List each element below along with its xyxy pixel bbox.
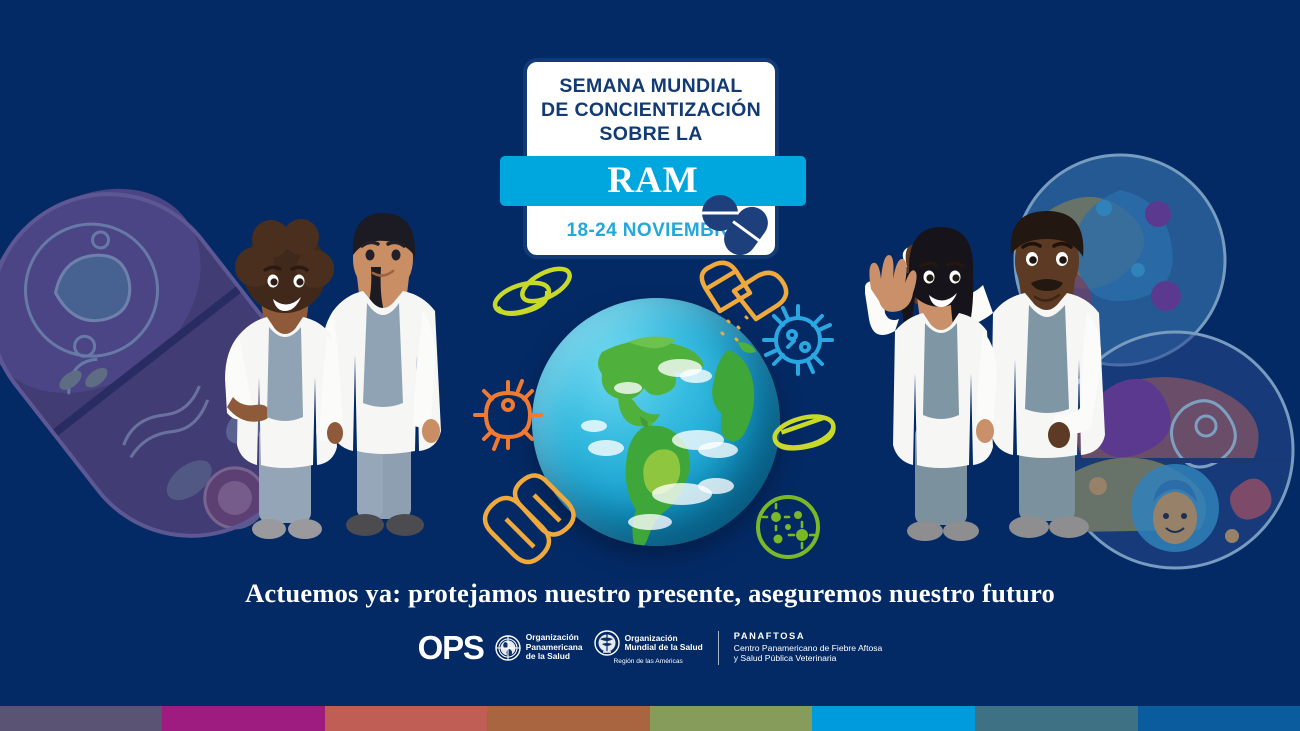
segment-olive-green <box>650 706 812 731</box>
paho-line-3: de la Salud <box>526 652 583 661</box>
segment-magenta <box>162 706 325 731</box>
segment-deep-blue <box>1138 706 1300 731</box>
who-logo: Organización Mundial de la Salud Región … <box>594 630 703 665</box>
who-emblem-icon <box>594 630 620 656</box>
acronym-text: RAM <box>607 162 698 201</box>
segment-terracotta <box>487 706 650 731</box>
ops-wordmark: OPS <box>418 631 484 664</box>
capsule-split-icon <box>702 263 786 340</box>
who-line-2: Mundial de la Salud <box>625 643 703 652</box>
capsules-icon <box>485 475 574 562</box>
globe-illustration <box>470 255 840 575</box>
paho-logo: Organización Panamericana de la Salud <box>495 633 583 661</box>
bacteria-icon <box>475 381 541 449</box>
pills-tablets-icon <box>491 262 574 319</box>
characters-right-group <box>865 163 1125 563</box>
segment-salmon-red <box>325 706 487 731</box>
virus-icon <box>764 306 832 374</box>
segment-bright-blue <box>812 706 975 731</box>
pill-capsule-icon <box>700 193 772 259</box>
segment-teal <box>975 706 1138 731</box>
panaftosa-line-1: Centro Panamericano de Fiebre Aftosa <box>734 643 883 654</box>
paho-name: Organización Panamericana de la Salud <box>526 633 583 661</box>
petri-dish-germs-icon <box>758 497 818 557</box>
who-region: Región de las Américas <box>614 658 683 665</box>
title-line-3: SOBRE LA <box>527 122 775 146</box>
bottom-color-bar <box>0 706 1300 731</box>
panaftosa-title: PANAFTOSA <box>734 631 883 643</box>
poster-canvas: SEMANA MUNDIAL DE CONCIENTIZACIÓN SOBRE … <box>0 0 1300 731</box>
segment-violet-gray <box>0 706 162 731</box>
paho-globe-seal-icon <box>495 635 521 661</box>
logo-divider <box>718 631 719 665</box>
title-line-1: SEMANA MUNDIAL <box>527 74 775 98</box>
title-line-2: DE CONCIENTIZACIÓN <box>527 98 775 122</box>
tablet-pill-icon <box>772 411 837 454</box>
health-worker-female-lab-coat <box>865 227 997 541</box>
panaftosa-logo: PANAFTOSA Centro Panamericano de Fiebre … <box>734 631 883 664</box>
panaftosa-line-2: y Salud Pública Veterinaria <box>734 653 883 664</box>
event-title-lines: SEMANA MUNDIAL DE CONCIENTIZACIÓN SOBRE … <box>527 74 775 146</box>
organization-logos: OPS Organización Panamericana de la Salu… <box>0 630 1300 665</box>
health-worker-female-lab-coat <box>225 219 343 539</box>
campaign-tagline: Actuemos ya: protejamos nuestro presente… <box>0 578 1300 609</box>
characters-left-group <box>205 163 455 563</box>
who-name: Organización Mundial de la Salud <box>625 634 703 653</box>
